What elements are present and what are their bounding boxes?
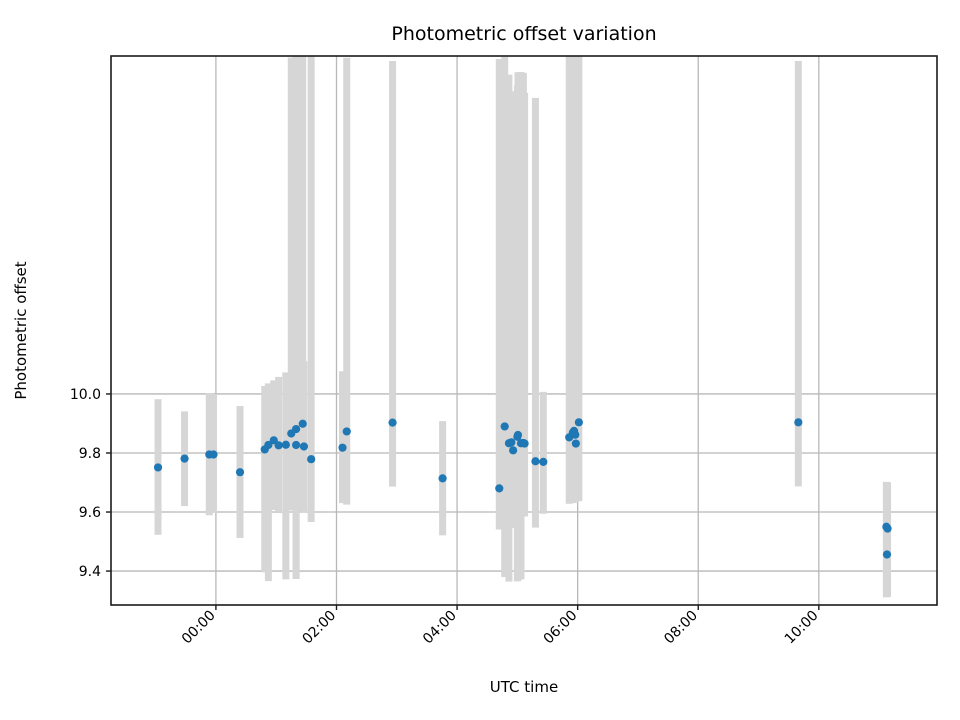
y-tick-label: 10.0: [70, 387, 101, 403]
chart-title: Photometric offset variation: [391, 23, 656, 45]
photometric-offset-scatter-plot: 9.49.69.810.000:0002:0004:0006:0008:0010…: [0, 0, 960, 720]
x-tick-label: 08:00: [661, 608, 701, 648]
y-axis-label: Photometric offset: [12, 261, 30, 399]
figure-canvas: 9.49.69.810.000:0002:0004:0006:0008:0010…: [0, 0, 960, 720]
x-tick-label: 10:00: [782, 608, 822, 648]
x-tick-label: 04:00: [420, 608, 460, 648]
x-tick-label: 02:00: [299, 608, 339, 648]
y-tick-label: 9.6: [79, 505, 101, 521]
y-tick-label: 9.4: [79, 564, 101, 580]
x-tick-label: 00:00: [179, 608, 219, 648]
x-tick-label: 06:00: [541, 608, 581, 648]
y-tick-label: 9.8: [79, 446, 101, 462]
x-axis-label: UTC time: [490, 678, 558, 696]
